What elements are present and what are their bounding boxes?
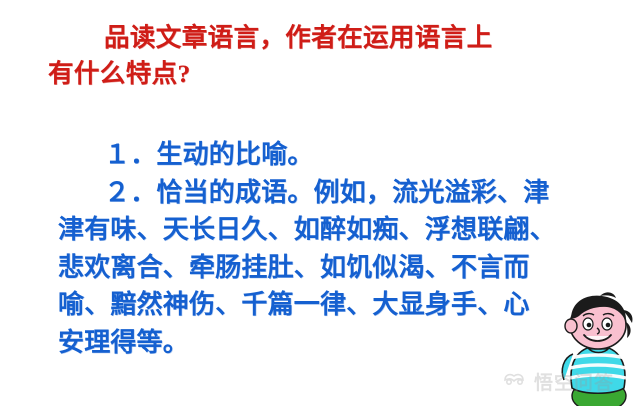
body-line-item-2: ２．恰当的成语。例如，流光溢彩、津 <box>46 174 618 212</box>
presentation-slide: 品读文章语言，作者在运用语言上 有什么特点? １．生动的比喻。 ２．恰当的成语。… <box>0 0 642 406</box>
cartoon-boy-icon <box>552 292 642 406</box>
body-line-4: 悲欢离合、牵肠挂肚、如饥似渴、不言而 <box>46 249 618 287</box>
watermark-logo-icon <box>503 371 529 392</box>
slide-title: 品读文章语言，作者在运用语言上 有什么特点? <box>48 20 608 92</box>
slide-body: １．生动的比喻。 ２．恰当的成语。例如，流光溢彩、津 津有味、天长日久、如醉如痴… <box>46 136 618 361</box>
title-line-2: 有什么特点? <box>48 56 608 92</box>
title-line-1: 品读文章语言，作者在运用语言上 <box>48 20 608 56</box>
body-line-5: 喻、黯然神伤、千篇一律、大显身手、心 <box>46 286 618 324</box>
body-line-item-1: １．生动的比喻。 <box>46 136 618 174</box>
body-line-6: 安理得等。 <box>46 324 618 362</box>
body-line-3: 津有味、天长日久、如醉如痴、浮想联翩、 <box>46 211 618 249</box>
